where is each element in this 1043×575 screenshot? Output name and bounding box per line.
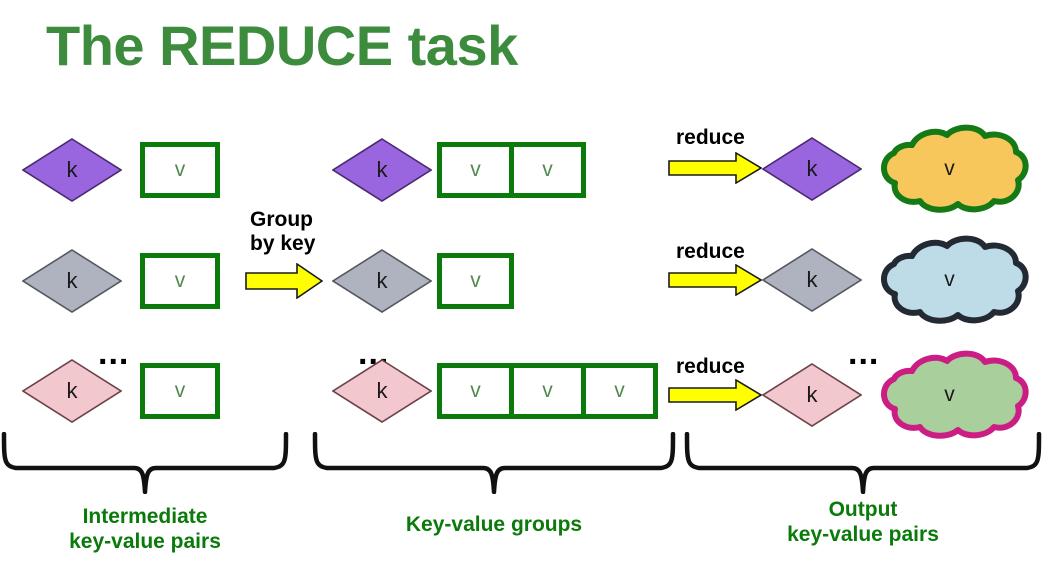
caption-output: Output key-value pairs — [683, 498, 1043, 548]
output-key-diamond-2: k — [762, 248, 862, 312]
intermediate-key-diamond-1: k — [22, 138, 122, 202]
brace-output — [683, 432, 1043, 494]
intermediate-value-box-3: v — [140, 363, 220, 419]
group-key-diamond-2: k — [332, 249, 432, 313]
caption-intermediate: Intermediate key-value pairs — [0, 505, 290, 555]
group-value-row-2: v — [437, 253, 514, 309]
reduce-label-2: reduce — [676, 240, 745, 264]
group-value-cell: v — [509, 142, 586, 198]
group-key-diamond-3: k — [332, 359, 432, 423]
group-value-cell: v — [581, 363, 658, 419]
caption-groups: Key-value groups — [311, 513, 677, 538]
group-value-cell: v — [437, 142, 514, 198]
group-by-key-line1: Group — [250, 208, 313, 231]
reduce-arrow-icon-2 — [668, 264, 762, 296]
output-cloud-3: v — [868, 349, 1031, 441]
brace-intermediate — [0, 432, 290, 494]
intermediate-value-box-2: v — [140, 253, 220, 309]
reduce-label-3: reduce — [676, 355, 745, 379]
brace-groups — [311, 432, 677, 494]
group-value-row-3: v v v — [437, 363, 658, 419]
diagram-canvas: The REDUCE task k v k v ... k v Groupby … — [0, 0, 1043, 575]
page-title: The REDUCE task — [46, 18, 518, 74]
reduce-arrow-icon-1 — [668, 152, 762, 184]
output-key-diamond-1: k — [762, 137, 862, 201]
intermediate-value-box-1: v — [140, 142, 220, 198]
output-cloud-2: v — [868, 234, 1031, 326]
group-by-key-arrow-icon — [245, 263, 323, 299]
group-value-cell: v — [437, 363, 514, 419]
output-cloud-1: v — [868, 123, 1031, 215]
group-value-cell: v — [437, 253, 514, 309]
group-by-key-line2: by key — [250, 232, 315, 255]
reduce-label-1: reduce — [676, 126, 745, 150]
output-key-diamond-3: k — [762, 363, 862, 427]
group-value-cell: v — [509, 363, 586, 419]
group-key-diamond-1: k — [332, 138, 432, 202]
intermediate-key-diamond-2: k — [22, 249, 122, 313]
group-value-row-1: v v — [437, 142, 586, 198]
reduce-arrow-icon-3 — [668, 379, 762, 411]
group-by-key-label: Groupby key — [250, 208, 315, 255]
intermediate-key-diamond-3: k — [22, 359, 122, 423]
